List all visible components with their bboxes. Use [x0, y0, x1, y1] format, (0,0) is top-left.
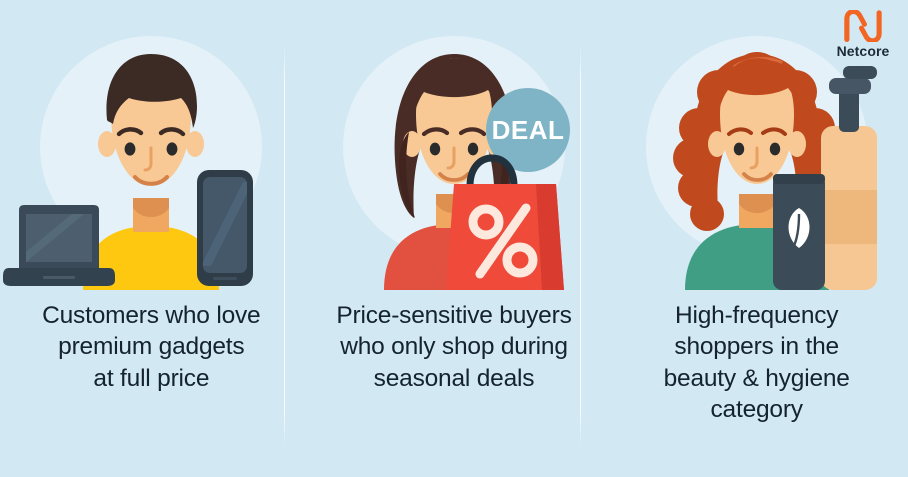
illustration-man-with-laptop-and-phone [1, 22, 301, 290]
illustration-woman-with-deal-shopping-bag: DEAL [304, 22, 604, 290]
panel-premium-gadget-customers[interactable]: Customers who love premium gadgets at fu… [0, 0, 303, 477]
pump-bottle-icon [821, 66, 877, 290]
panel-price-sensitive-buyers[interactable]: DEAL Price [303, 0, 606, 477]
svg-text:DEAL: DEAL [492, 115, 565, 145]
panel-caption: High-frequency shoppers in the beauty & … [622, 300, 892, 425]
panel-caption: Customers who love premium gadgets at fu… [16, 300, 286, 394]
smartphone-icon [197, 170, 253, 286]
cosmetic-tube-icon [773, 174, 825, 290]
panel-caption: Price-sensitive buyers who only shop dur… [319, 300, 589, 394]
laptop-icon [3, 205, 115, 286]
panel-row: Customers who love premium gadgets at fu… [0, 0, 908, 477]
illustration-woman-with-beauty-products [607, 22, 907, 290]
infographic-canvas: Netcore [0, 0, 908, 477]
panel-beauty-hygiene-shoppers[interactable]: High-frequency shoppers in the beauty & … [605, 0, 908, 477]
